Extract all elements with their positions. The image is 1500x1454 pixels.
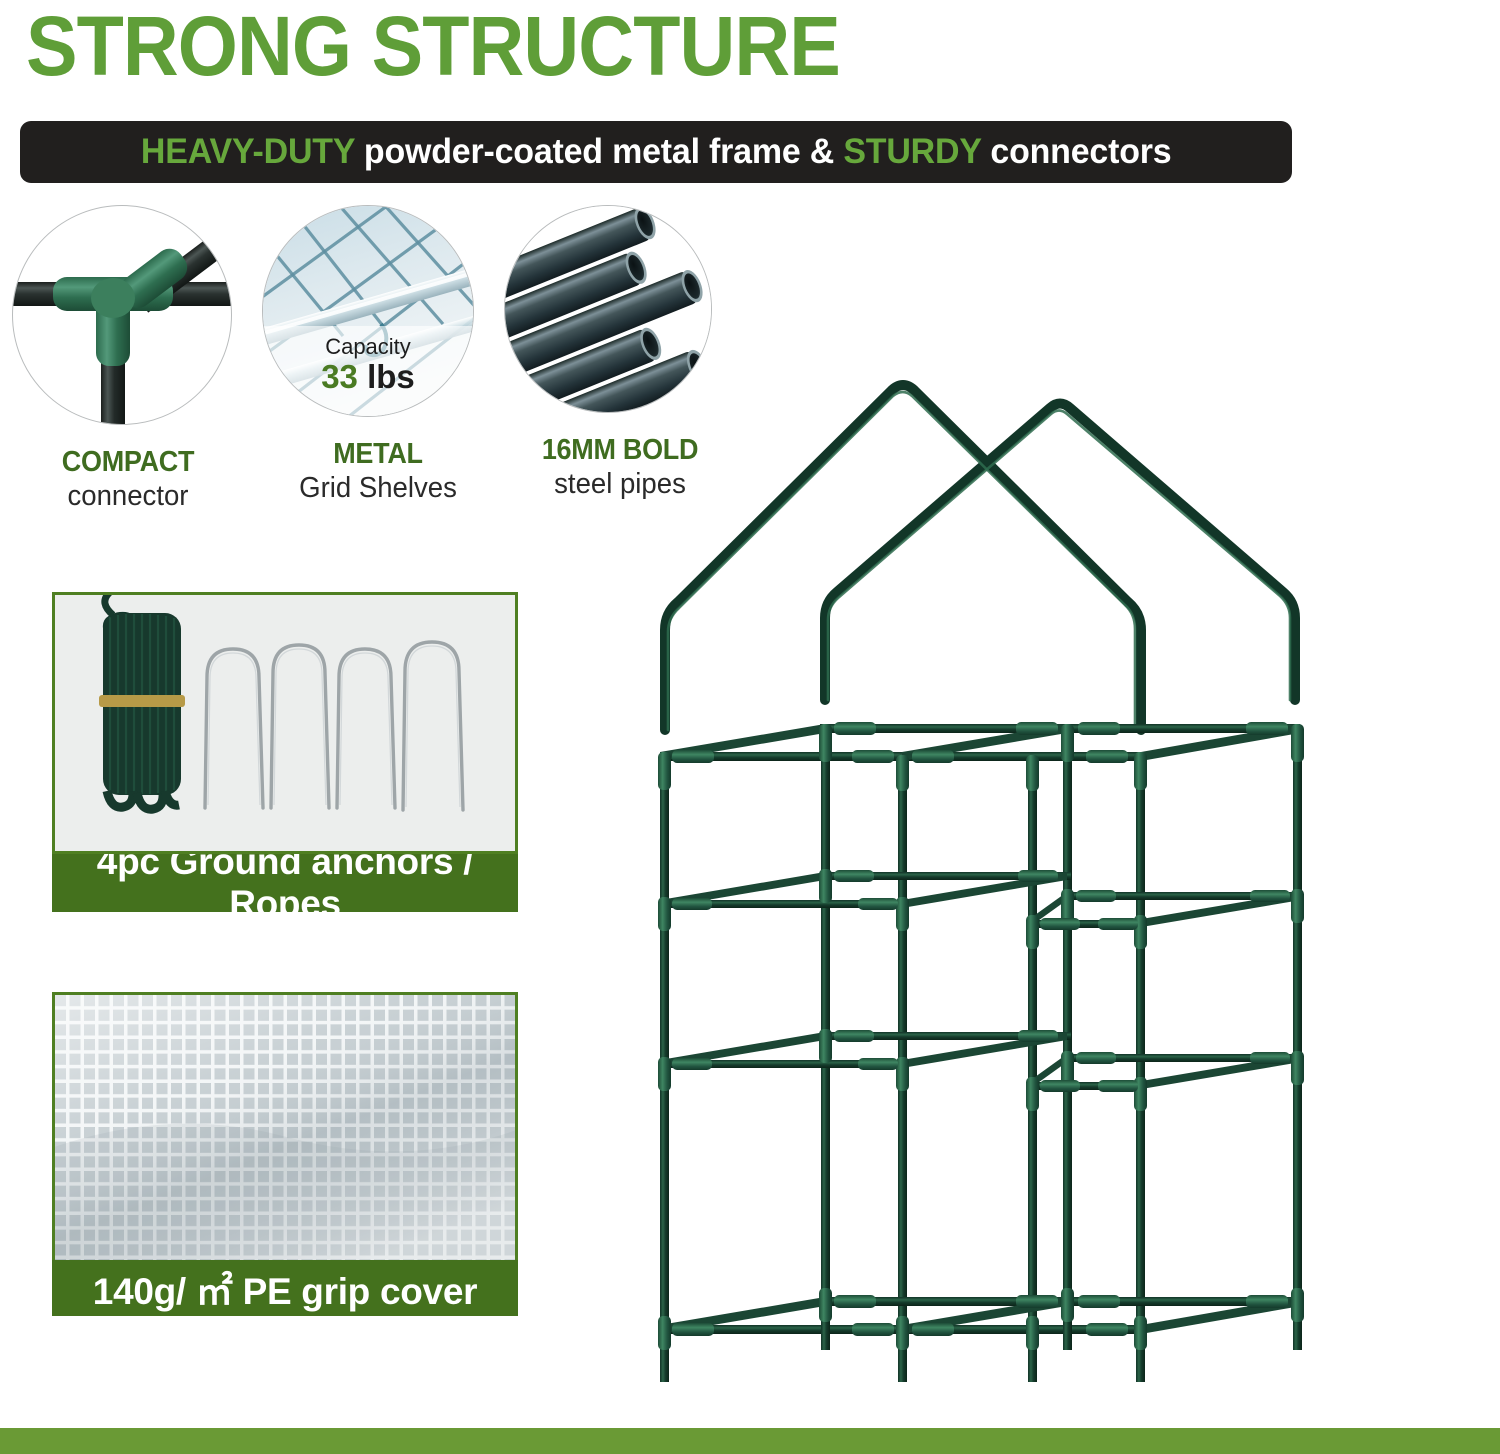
feature-caption-line2: Grid Shelves xyxy=(268,473,488,504)
infographic-page: STRONG STRUCTURE HEAVY-DUTY powder-coate… xyxy=(0,0,1500,1454)
feature-icon-row: COMPACT connector xyxy=(12,205,712,535)
footer-rule xyxy=(0,1428,1500,1454)
panel-caption: 140g/ ㎡ PE grip cover xyxy=(52,1260,518,1316)
feature-caption-line2: connector xyxy=(18,481,238,512)
feature-metal-grid-shelves: Capacity 33 lbs METAL Grid Shelves xyxy=(262,205,494,505)
capacity-value: 33 xyxy=(321,358,358,395)
panel-ground-anchors: 4pc Ground anchors / Ropes xyxy=(52,592,518,912)
feature-compact-connector: COMPACT connector xyxy=(12,205,244,513)
tee-connector-icon xyxy=(12,205,232,425)
subtitle-part-mid: powder-coated metal frame & xyxy=(354,132,843,171)
ground-anchors-and-rope-icon xyxy=(52,592,518,854)
feature-caption: COMPACT connector xyxy=(12,447,244,513)
feature-caption-line1: COMPACT xyxy=(20,447,236,478)
feature-caption: METAL Grid Shelves xyxy=(262,439,494,505)
subtitle-banner-text: HEAVY-DUTY powder-coated metal frame & S… xyxy=(141,132,1172,172)
page-title: STRONG STRUCTURE xyxy=(26,4,840,88)
metal-grid-shelf-icon: Capacity 33 lbs xyxy=(262,205,474,417)
capacity-badge: Capacity 33 lbs xyxy=(263,334,473,396)
subtitle-part-sturdy: STURDY xyxy=(843,132,981,171)
pe-mesh-cover-icon xyxy=(52,992,518,1260)
feature-caption-line1: METAL xyxy=(270,439,486,470)
capacity-label: Capacity xyxy=(263,334,473,360)
capacity-unit: lbs xyxy=(367,358,415,395)
subtitle-part-heavy-duty: HEAVY-DUTY xyxy=(141,132,355,171)
subtitle-banner: HEAVY-DUTY powder-coated metal frame & S… xyxy=(20,121,1292,183)
panel-pe-cover: 140g/ ㎡ PE grip cover xyxy=(52,992,518,1316)
greenhouse-frame-illustration xyxy=(620,300,1500,1420)
subtitle-part-end: connectors xyxy=(981,132,1171,171)
panel-caption: 4pc Ground anchors / Ropes xyxy=(52,854,518,912)
capacity-value-row: 33 lbs xyxy=(263,358,473,396)
